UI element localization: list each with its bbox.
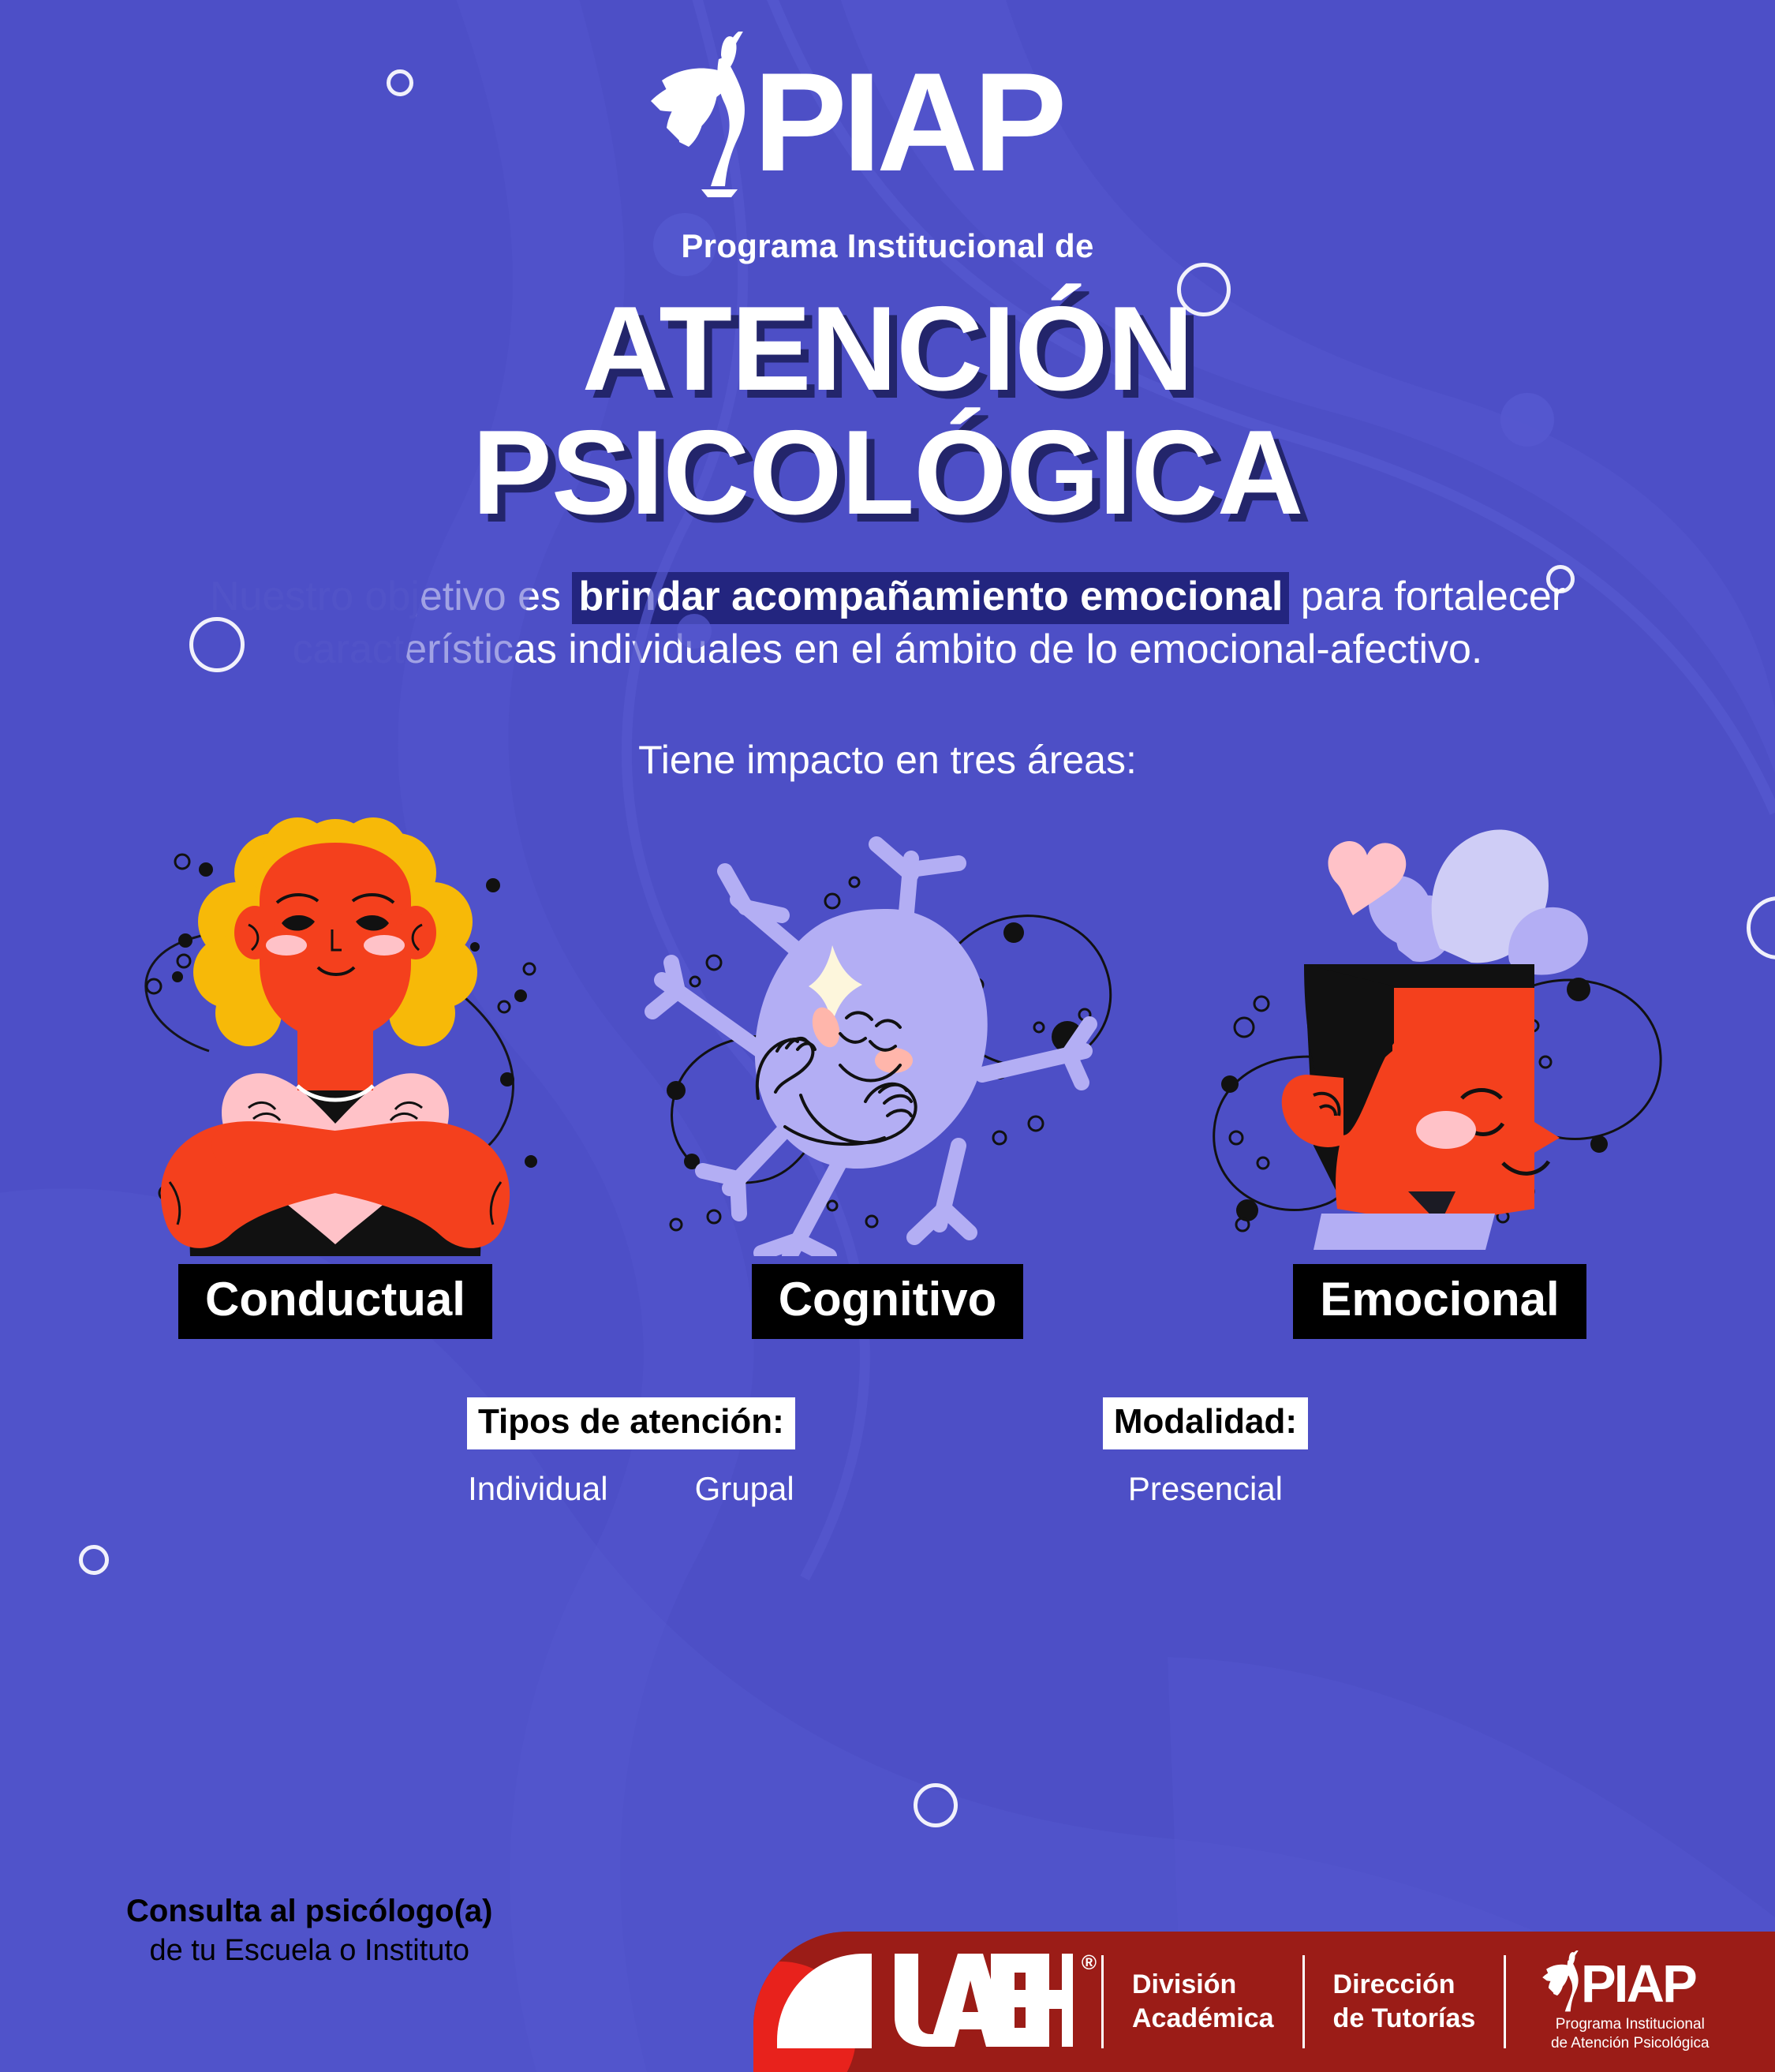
footer-piap-logo: PIAP Programa Institucional de Atención … (1539, 1950, 1721, 2054)
lead-after: para fortalecer (1289, 574, 1565, 619)
heron-foot (701, 189, 738, 197)
cognitivo-art (643, 814, 1132, 1256)
shoulder (1313, 1214, 1495, 1250)
lead-paragraph: Nuestro objetivo es brindar acompañamien… (103, 570, 1672, 675)
blush (1416, 1111, 1476, 1149)
modes-row: Tipos de atención: Individual Grupal Mod… (0, 1397, 1775, 1508)
title-line-1: ATENCIÓN (0, 287, 1775, 411)
uaeh-wordmark (891, 1954, 1073, 2047)
direccion-line-1: Dirección (1333, 1968, 1476, 2002)
lead-highlight: brindar acompañamiento emocional (572, 572, 1289, 624)
division-line-1: División (1132, 1968, 1274, 2002)
registered-trademark-icon: ® (1082, 1950, 1097, 1975)
area-cognitivo: Cognitivo (635, 814, 1140, 1339)
footer-piap-mark: PIAP (1539, 1950, 1721, 2012)
piap-logo-mark: PIAP (643, 32, 1132, 205)
piap-subtitle: Programa Institucional de (0, 227, 1775, 265)
division-line-2: Académica (1132, 2002, 1274, 2036)
consult-line-2: de tu Escuela o Instituto (126, 1934, 492, 1968)
decorative-circle (79, 1545, 109, 1575)
mode-option-grupal: Grupal (695, 1470, 794, 1508)
title-line-2: PSICOLÓGICA (0, 411, 1775, 535)
mode-options-tipos: Individual Grupal (467, 1470, 795, 1508)
self-hug-person-illustration (91, 814, 580, 1256)
area-label-conductual: Conductual (178, 1264, 492, 1339)
page-title: ATENCIÓN PSICOLÓGICA (0, 287, 1775, 534)
footer-divider (1101, 1955, 1104, 2048)
mode-options-modalidad: Presencial (1103, 1470, 1308, 1508)
blush-right (364, 935, 405, 956)
lead-before: Nuestro objetivo es (210, 574, 573, 619)
uaeh-logo: ® (891, 1954, 1073, 2051)
blush-right (875, 1048, 913, 1073)
ear-right (395, 906, 436, 959)
poster-header: PIAP Programa Institucional de ATENCIÓN … (0, 0, 1775, 534)
consult-block: Consulta al psicólogo(a) de tu Escuela o… (126, 1894, 492, 1968)
mode-heading-tipos: Tipos de atención: (467, 1397, 795, 1449)
emocional-art (1195, 814, 1684, 1256)
impact-heading: Tiene impacto en tres áreas: (0, 737, 1775, 783)
piap-wordmark: PIAP (753, 43, 1063, 200)
poster-root: PIAP Programa Institucional de ATENCIÓN … (0, 0, 1775, 2072)
lead-line-2: características individuales en el ámbit… (103, 623, 1672, 676)
footer-bar: ® División Académica Dirección de Tutorí… (753, 1932, 1775, 2072)
piap-sub-line-2: de Atención Psicológica (1551, 2034, 1710, 2053)
footer-divider (1302, 1955, 1305, 2048)
mode-group-tipos: Tipos de atención: Individual Grupal (467, 1397, 795, 1508)
footer-direccion-tutorias: Dirección de Tutorías (1333, 1968, 1476, 2036)
mode-heading-modalidad: Modalidad: (1103, 1397, 1308, 1449)
areas-row: Conductual (0, 814, 1775, 1339)
neck (297, 1012, 373, 1090)
mode-option-individual: Individual (468, 1470, 607, 1508)
neuron-hug-illustration (643, 814, 1132, 1256)
footer-divider (1504, 1955, 1506, 2048)
conductual-art (91, 814, 580, 1256)
ear-left (234, 906, 275, 959)
footer-piap-subtitle: Programa Institucional de Atención Psico… (1551, 2015, 1710, 2054)
open-head-profile-illustration (1195, 814, 1684, 1256)
direccion-line-2: de Tutorías (1333, 2002, 1476, 2036)
consult-line-1: Consulta al psicólogo(a) (126, 1894, 492, 1929)
footer-division-academica: División Académica (1132, 1968, 1274, 2036)
area-label-cognitivo: Cognitivo (752, 1264, 1024, 1339)
area-emocional: Emocional (1187, 814, 1692, 1339)
area-label-emocional: Emocional (1293, 1264, 1586, 1339)
area-conductual: Conductual (83, 814, 588, 1339)
mode-group-modalidad: Modalidad: Presencial (1103, 1397, 1308, 1508)
piap-logo: PIAP (0, 32, 1775, 221)
mode-option-presencial: Presencial (1128, 1470, 1283, 1508)
footer-content: ® División Académica Dirección de Tutorí… (753, 1932, 1721, 2072)
blush-left (266, 935, 307, 956)
footer-piap-text: PIAP (1581, 1954, 1696, 2011)
decorative-circle (914, 1783, 958, 1827)
heron-beak (731, 32, 744, 49)
piap-sub-line-1: Programa Institucional (1551, 2015, 1710, 2034)
